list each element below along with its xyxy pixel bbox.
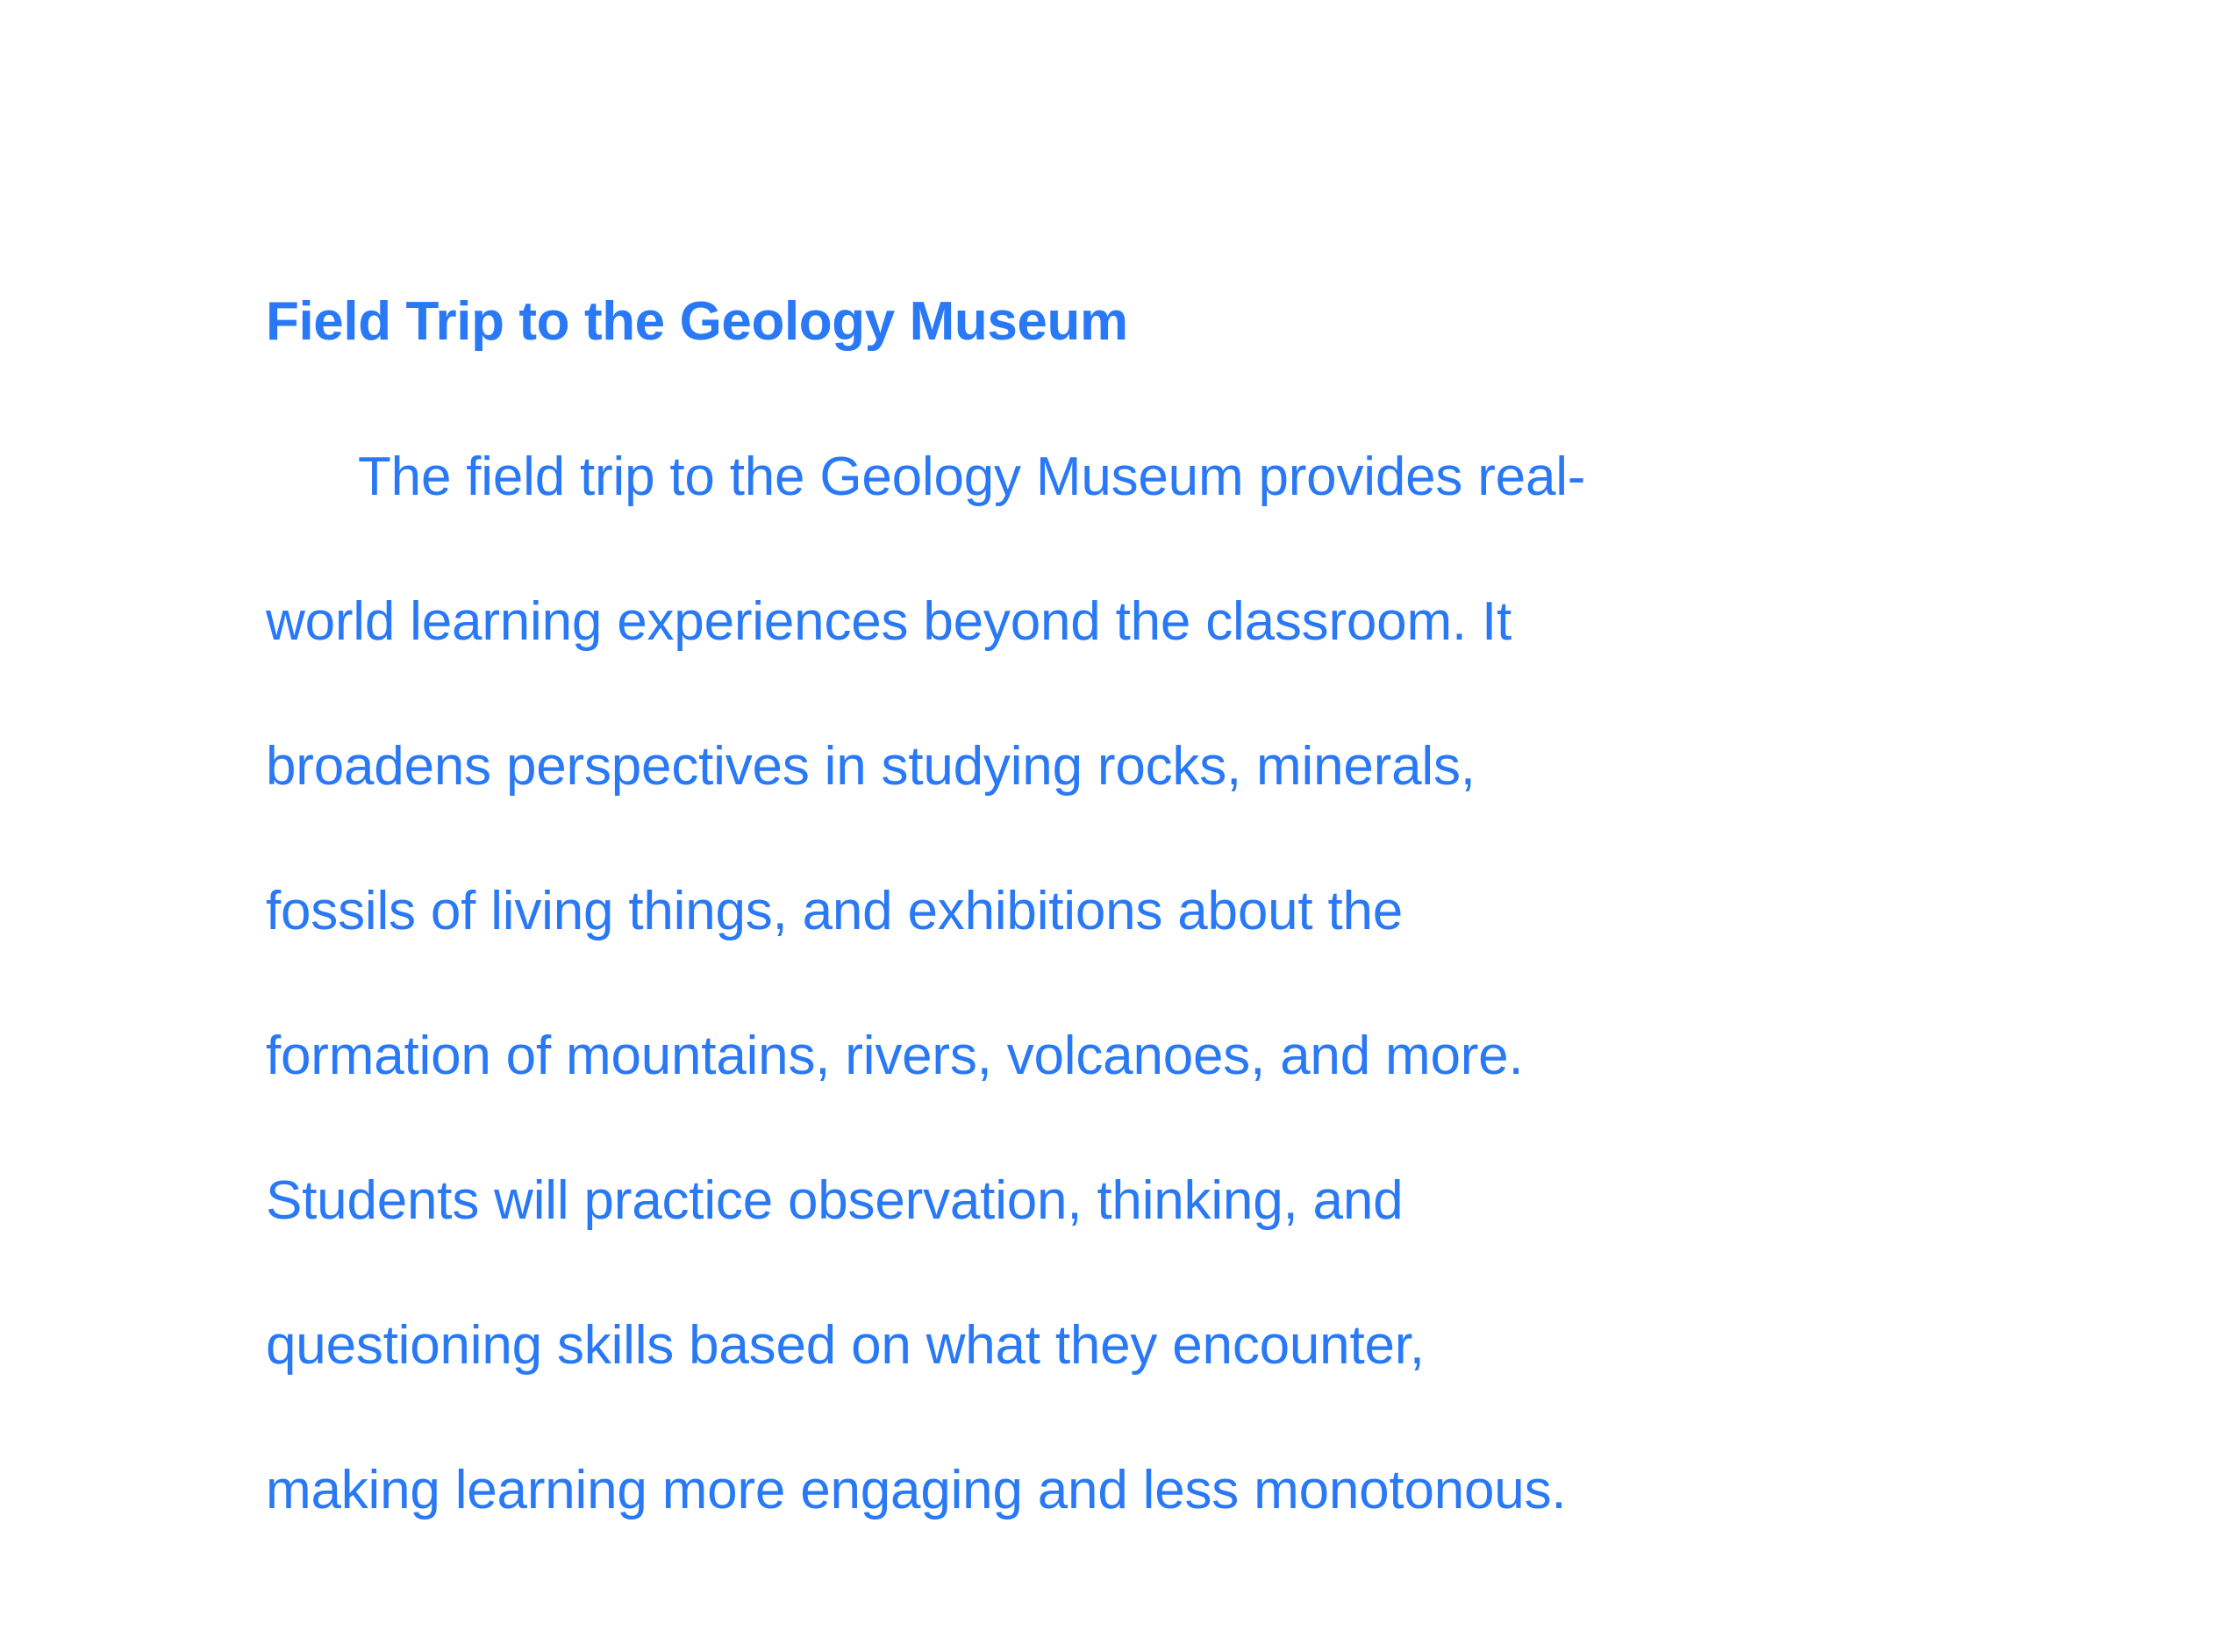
paragraph-line: fossils of living things, and exhibition…: [266, 839, 1985, 983]
body-paragraph: The field trip to the Geology Museum pro…: [266, 404, 1985, 1563]
paragraph-line: broadens perspectives in studying rocks,…: [266, 694, 1985, 839]
paragraph-line: questioning skills based on what they en…: [266, 1273, 1985, 1418]
document-content: Field Trip to the Geology Museum The fie…: [266, 290, 1985, 1563]
paragraph-line: formation of mountains, rivers, volcanoe…: [266, 983, 1985, 1128]
paragraph-line: The field trip to the Geology Museum pro…: [266, 404, 1985, 549]
paragraph-line: making learning more engaging and less m…: [266, 1418, 1985, 1563]
page-title: Field Trip to the Geology Museum: [266, 290, 1985, 354]
paragraph-line: world learning experiences beyond the cl…: [266, 549, 1985, 694]
paragraph-line: Students will practice observation, thin…: [266, 1128, 1985, 1273]
document-page: Field Trip to the Geology Museum The fie…: [0, 0, 2237, 1652]
